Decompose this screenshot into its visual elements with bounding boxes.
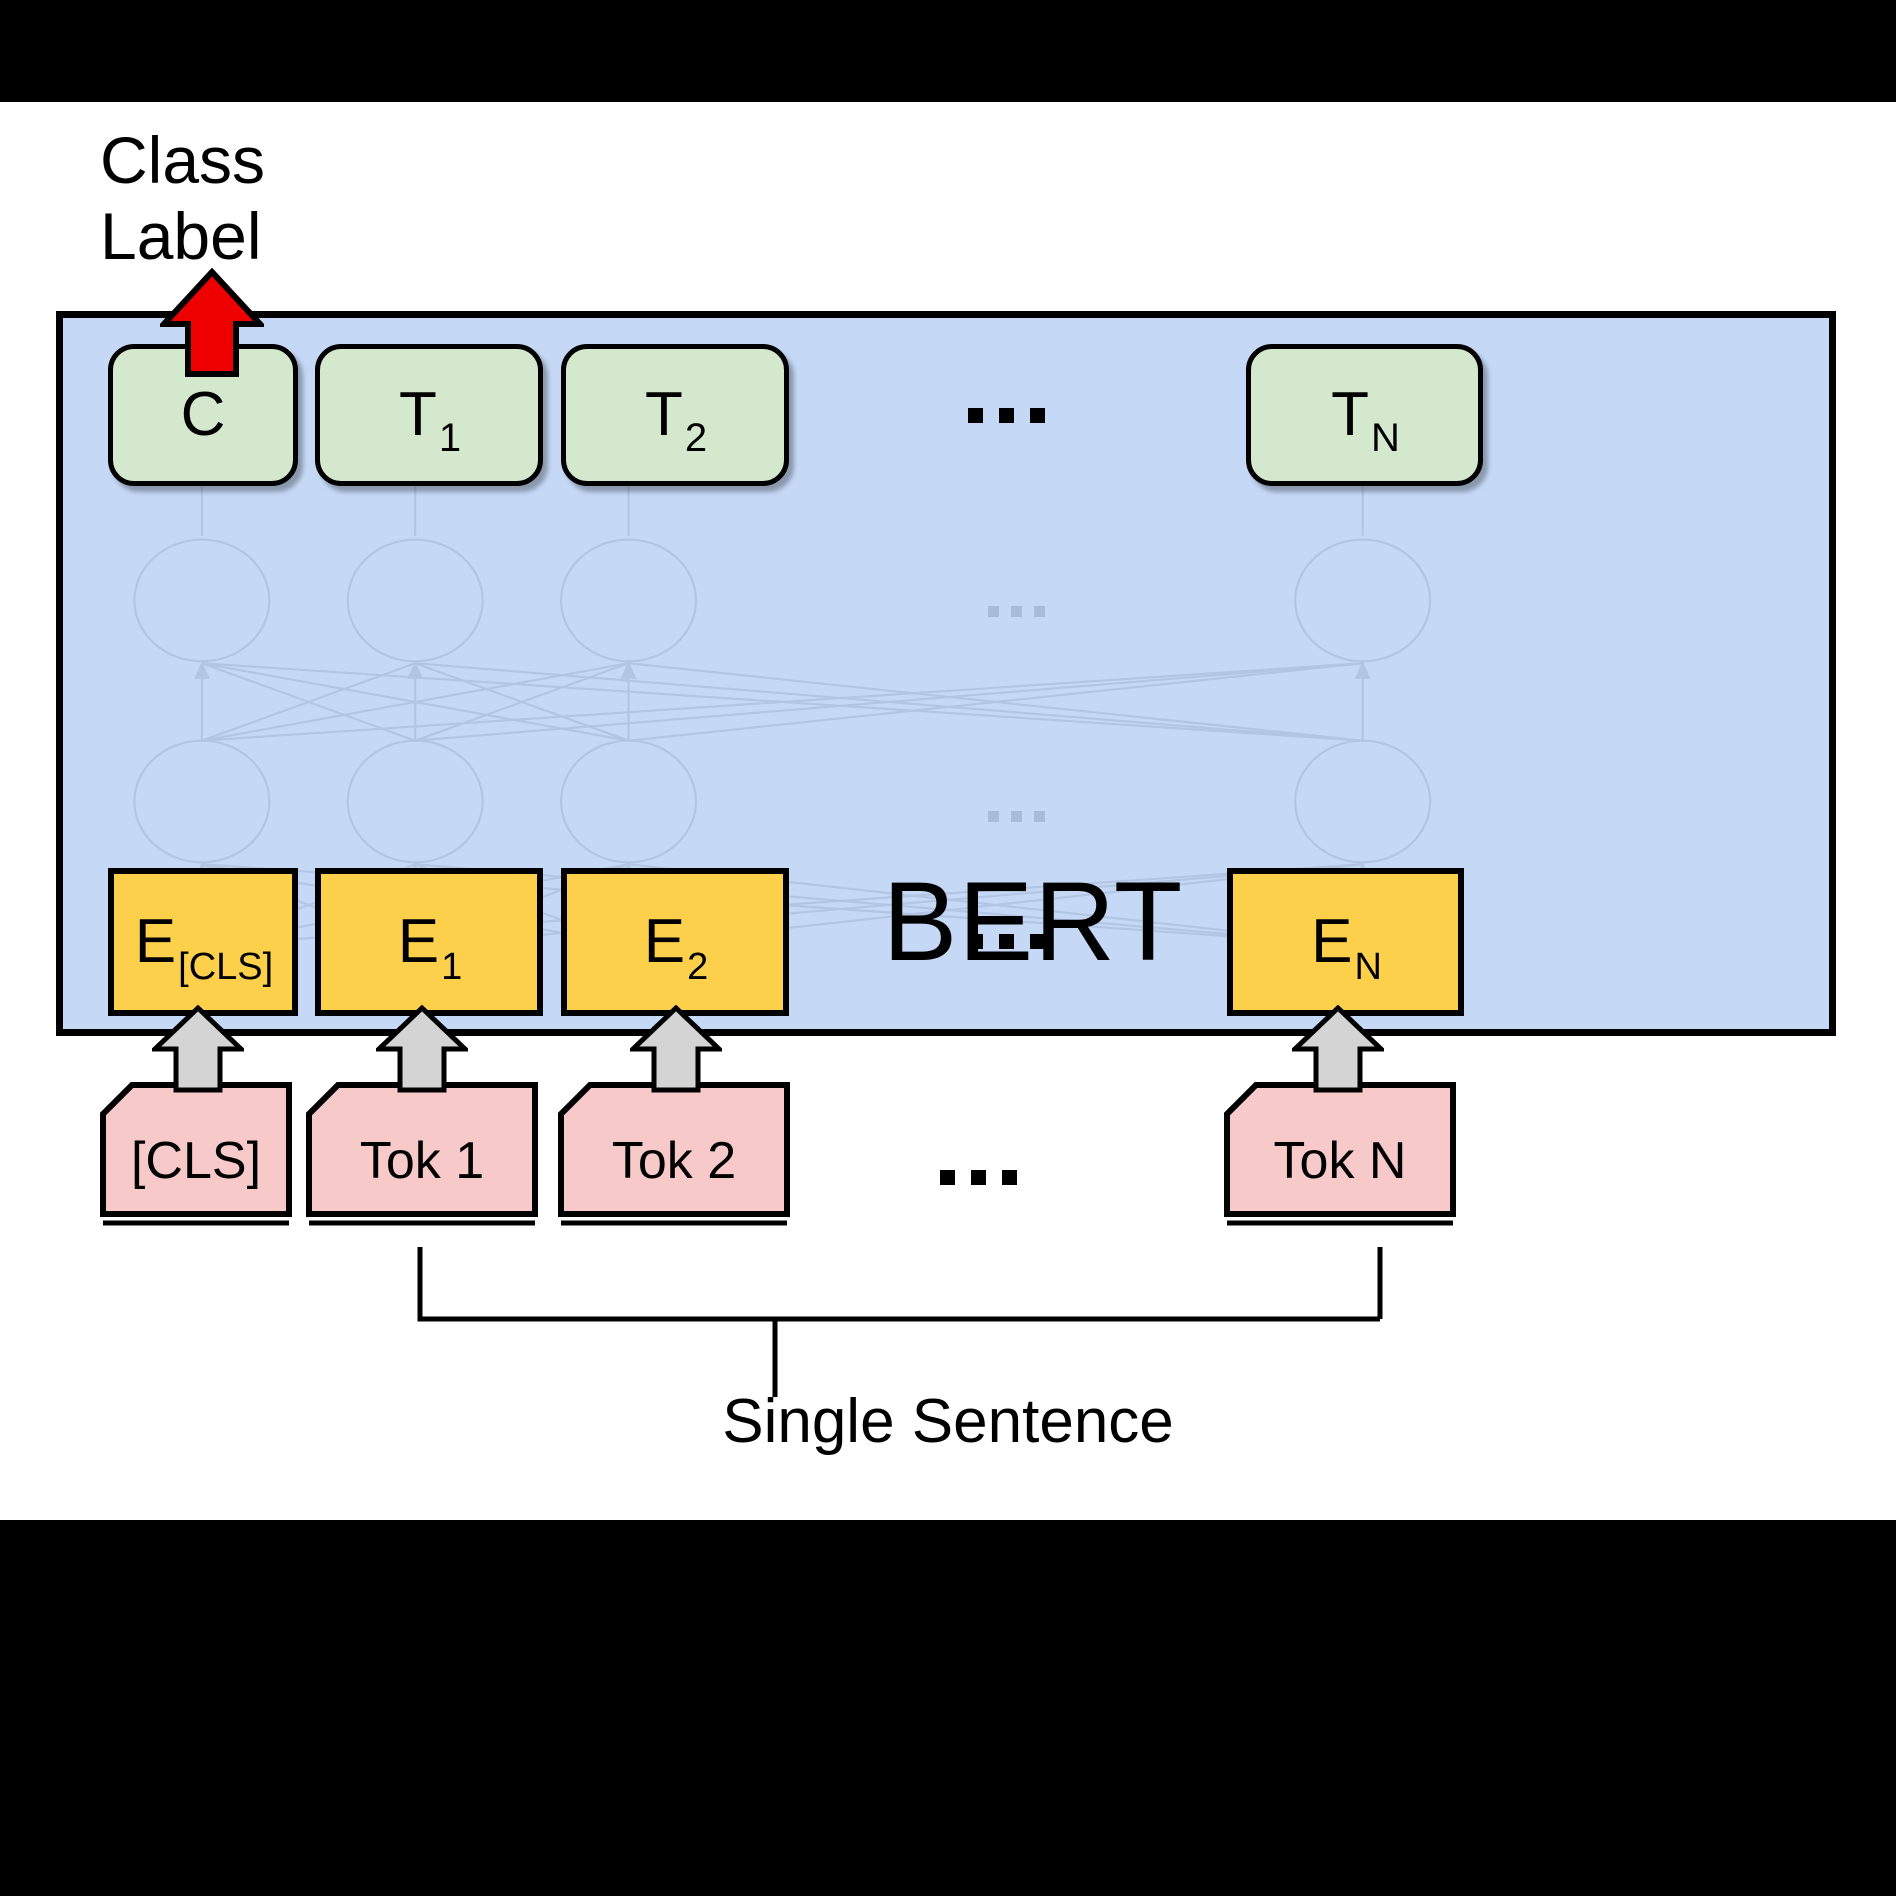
network-ellipsis-upper [988,606,1045,617]
output-label-tn: TN [1331,384,1398,446]
letterbox-top [0,0,1896,102]
embedding-box-en[interactable]: EN [1227,868,1464,1016]
token-to-embedding-arrow-cls [152,1005,244,1093]
network-ellipsis-lower [988,811,1045,822]
token-box-cls[interactable]: [CLS] [98,1080,294,1232]
output-row-ellipsis [968,408,1045,423]
embedding-label-e2: E2 [644,911,707,973]
embedding-label-en: EN [1311,911,1380,973]
token-to-embedding-arrow-1 [376,1005,468,1093]
letterbox-bottom [0,1520,1896,1896]
token-row-ellipsis [940,1170,1017,1185]
output-label-t2: T2 [645,384,705,446]
sentence-bracket [400,1247,1400,1397]
output-box-t2[interactable]: T2 [561,344,789,486]
embedding-box-e2[interactable]: E2 [561,868,789,1016]
class-label-text: Class Label [100,122,265,274]
embedding-label-cls: E[CLS] [135,911,271,973]
class-label-arrow [160,268,264,378]
token-label-1: Tok 1 [304,1080,540,1232]
embedding-label-e1: E1 [398,911,461,973]
output-label-t1: T1 [399,384,459,446]
token-label-cls: [CLS] [98,1080,294,1232]
token-label-n: Tok N [1222,1080,1458,1232]
token-to-embedding-arrow-n [1292,1005,1384,1093]
diagram-canvas: Class Label [0,0,1896,1896]
figure-area: Class Label [0,102,1896,1520]
bert-model-label: BERT [823,866,1243,978]
embedding-box-e1[interactable]: E1 [315,868,543,1016]
output-label-c: C [181,384,226,446]
token-to-embedding-arrow-2 [630,1005,722,1093]
embedding-row-ellipsis [968,934,1045,949]
token-box-2[interactable]: Tok 2 [556,1080,792,1232]
output-box-tn[interactable]: TN [1246,344,1483,486]
token-box-1[interactable]: Tok 1 [304,1080,540,1232]
token-label-2: Tok 2 [556,1080,792,1232]
token-box-n[interactable]: Tok N [1222,1080,1458,1232]
embedding-box-cls[interactable]: E[CLS] [108,868,298,1016]
bert-container: BERT C T1 T2 TN E[CLS] E1 [56,311,1836,1036]
output-box-t1[interactable]: T1 [315,344,543,486]
sentence-label-text: Single Sentence [0,1387,1896,1457]
